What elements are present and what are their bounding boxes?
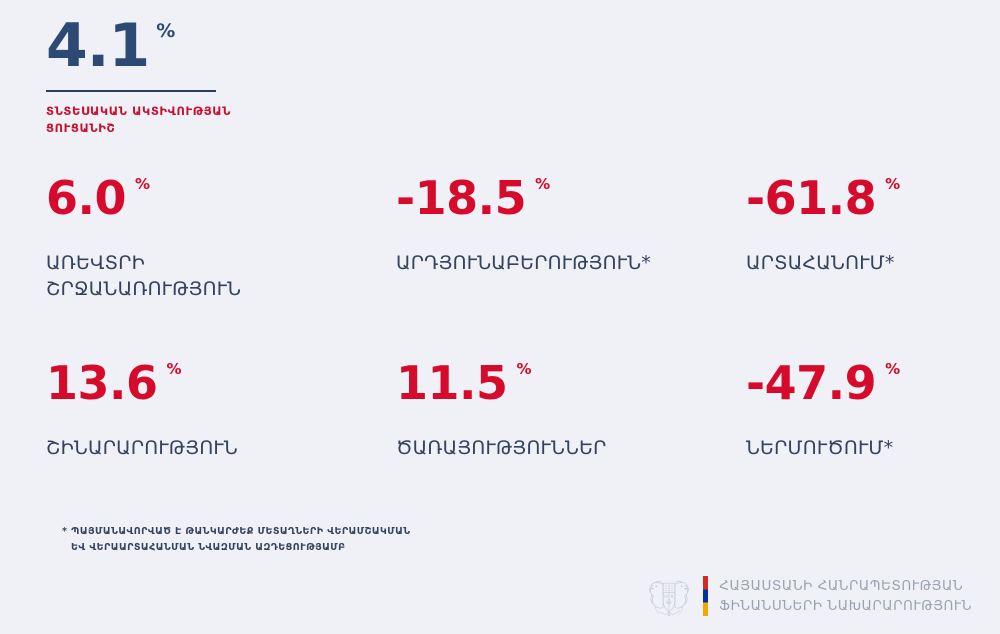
- armenia-coat-of-arms-icon: [646, 574, 692, 618]
- percent-sign: %: [135, 177, 150, 192]
- stat-label: ՇԻՆԱՐԱՐՈՒԹՅՈՒՆ: [46, 436, 346, 462]
- ministry-logo-text: ՀԱՅԱՍՏԱՆԻ ՀԱՆՐԱՊԵՏՈՒԹՅԱՆ ՖԻՆԱՆՍՆԵՐԻ ՆԱԽԱ…: [719, 576, 972, 617]
- stat-value-row: -61.8 %: [746, 175, 1000, 237]
- header-value-row: 4.1 %: [46, 18, 366, 86]
- economic-activity-index-value: 4.1: [46, 18, 149, 75]
- stat-value: 6.0: [46, 175, 126, 221]
- stat-value-row: 11.5 %: [396, 360, 746, 422]
- stat-label: ԾԱՌԱՅՈՒԹՅՈՒՆՆԵՐ: [396, 436, 696, 462]
- footnote-line-1: * ՊԱՅՄԱՆԱՎՈՐՎԱԾ Է ԹԱՆԿԱՐԺԵՔ ՄԵՏԱՂՆԵՐԻ ՎԵ…: [62, 526, 411, 537]
- header-block: 4.1 % ՏՆՏԵՍԱԿԱՆ ԱԿՏԻՎՈՒԹՅԱՆ ՑՈՒՑԱՆԻՇ: [46, 18, 366, 136]
- stat-value: 11.5: [396, 360, 508, 406]
- stat-label: ՆԵՐՄՈՒԾՈՒՄ*: [746, 436, 986, 462]
- stat-trade-turnover: 6.0 % ԱՌԵՎՏՐԻ ՇՐՋԱՆԱՌՈՒԹՅՈՒՆ: [46, 175, 396, 360]
- footnote-line-2: ԵՎ ՎԵՐԱԱՐՏԱՀԱՆՄԱՆ ՆՎԱԶՄԱՆ ԱԶԴԵՑՈՒԹՅԱՄԲ: [62, 540, 411, 556]
- percent-sign: %: [167, 362, 182, 377]
- stat-value: 13.6: [46, 360, 158, 406]
- footnote: * ՊԱՅՄԱՆԱՎՈՐՎԱԾ Է ԹԱՆԿԱՐԺԵՔ ՄԵՏԱՂՆԵՐԻ ՎԵ…: [62, 524, 411, 556]
- percent-sign: %: [885, 177, 900, 192]
- percent-sign: %: [156, 22, 175, 41]
- percent-sign: %: [517, 362, 532, 377]
- stat-export: -61.8 % ԱՐՏԱՀԱՆՈՒՄ*: [746, 175, 1000, 360]
- stat-import: -47.9 % ՆԵՐՄՈՒԾՈՒՄ*: [746, 360, 1000, 462]
- stat-value-row: 6.0 %: [46, 175, 396, 237]
- header-divider: [46, 90, 216, 92]
- stat-construction: 13.6 % ՇԻՆԱՐԱՐՈՒԹՅՈՒՆ: [46, 360, 396, 462]
- ministry-logo-line-1: ՀԱՅԱՍՏԱՆԻ ՀԱՆՐԱՊԵՏՈՒԹՅԱՆ: [719, 576, 972, 596]
- ministry-logo: ՀԱՅԱՍՏԱՆԻ ՀԱՆՐԱՊԵՏՈՒԹՅԱՆ ՖԻՆԱՆՍՆԵՐԻ ՆԱԽԱ…: [646, 574, 972, 618]
- stat-grid: 6.0 % ԱՌԵՎՏՐԻ ՇՐՋԱՆԱՌՈՒԹՅՈՒՆ -18.5 % ԱՐԴ…: [46, 175, 956, 462]
- stat-value: -18.5: [396, 175, 526, 221]
- stat-services: 11.5 % ԾԱՌԱՅՈՒԹՅՈՒՆՆԵՐ: [396, 360, 746, 462]
- stat-label: ԱՌԵՎՏՐԻ ՇՐՋԱՆԱՌՈՒԹՅՈՒՆ: [46, 251, 346, 302]
- stat-industry: -18.5 % ԱՐԴՅՈՒՆԱԲԵՐՈՒԹՅՈՒՆ*: [396, 175, 746, 360]
- stat-value-row: -47.9 %: [746, 360, 1000, 422]
- stat-value-row: -18.5 %: [396, 175, 746, 237]
- percent-sign: %: [535, 177, 550, 192]
- stat-value: -47.9: [746, 360, 876, 406]
- stat-value: -61.8: [746, 175, 876, 221]
- stat-label: ԱՐԴՅՈՒՆԱԲԵՐՈՒԹՅՈՒՆ*: [396, 251, 696, 277]
- header-caption: ՏՆՏԵՍԱԿԱՆ ԱԿՏԻՎՈՒԹՅԱՆ ՑՈՒՑԱՆԻՇ: [46, 103, 246, 136]
- armenia-flag-bar-icon: [703, 576, 708, 616]
- stat-value-row: 13.6 %: [46, 360, 396, 422]
- ministry-logo-line-2: ՖԻՆԱՆՍՆԵՐԻ ՆԱԽԱՐԱՐՈՒԹՅՈՒՆ: [719, 596, 972, 616]
- stat-label: ԱՐՏԱՀԱՆՈՒՄ*: [746, 251, 986, 277]
- percent-sign: %: [885, 362, 900, 377]
